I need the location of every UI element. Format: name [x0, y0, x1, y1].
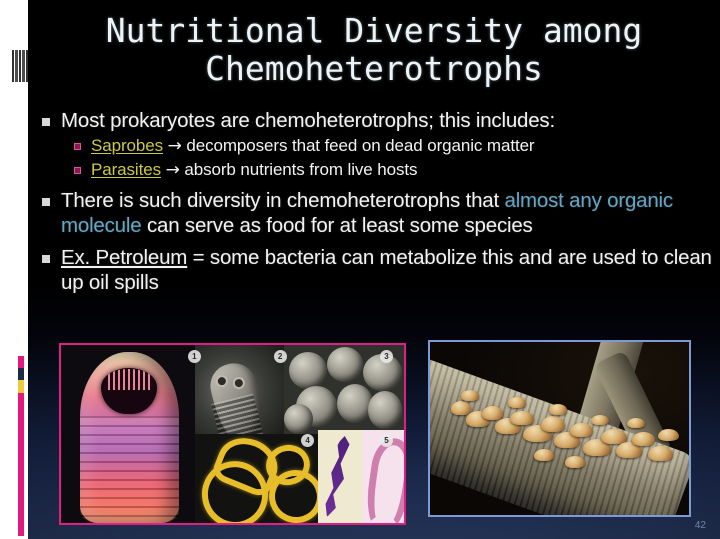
collage-badge-2: 2 — [274, 350, 287, 363]
title-line-2: Chemoheterotrophs — [28, 50, 720, 88]
sub-bullet-saprobes: Saprobes → decomposers that feed on dead… — [74, 134, 716, 158]
keyword-saprobes: Saprobes — [91, 136, 163, 155]
mushroom-cap — [510, 411, 533, 425]
mushroom-cap — [461, 390, 479, 400]
worm-teeth-shape — [105, 369, 153, 390]
bullet-square-icon — [42, 118, 50, 126]
mushroom-cap — [658, 429, 679, 441]
barcode-stripes-decoration — [12, 50, 28, 82]
slide-canvas: Nutritional Diversity among Chemoheterot… — [28, 0, 720, 539]
sub-bullet-square-icon — [74, 167, 81, 174]
mushroom-cap — [534, 449, 555, 461]
collage-panel-stained-worm — [318, 430, 363, 523]
egg-shape — [284, 404, 313, 434]
collage-badge-4: 4 — [301, 434, 314, 447]
navy-accent-segment — [18, 368, 24, 380]
bullet-item-1: Most prokaryotes are chemoheterotrophs; … — [38, 108, 716, 133]
body-content: Most prokaryotes are chemoheterotrophs; … — [38, 108, 716, 296]
left-margin-strip — [0, 0, 28, 539]
slide-page-number: 42 — [695, 520, 706, 531]
bullet-item-2: There is such diversity in chemoheterotr… — [38, 188, 716, 238]
bullet-2-part-a: There is such diversity in chemoheterotr… — [61, 189, 505, 212]
mushroom-cap — [570, 423, 593, 437]
sub-bullet-saprobes-text: Saprobes → decomposers that feed on dead… — [91, 134, 716, 158]
bullet-2-part-b: can serve as food for at least some spec… — [141, 214, 532, 237]
mushroom-cap — [565, 456, 586, 468]
worm-segment-rings — [80, 416, 179, 523]
collage-panel-sem-head — [195, 345, 284, 446]
bullet-item-3: Ex. Petroleum = some bacteria can metabo… — [38, 245, 716, 295]
sub-bullet-saprobes-rest: decomposers that feed on dead organic ma… — [182, 136, 535, 155]
mushroom-photo-image — [428, 340, 691, 517]
mushroom-cap — [549, 404, 567, 414]
slide-root: Nutritional Diversity among Chemoheterot… — [0, 0, 720, 539]
bullet-square-icon — [42, 255, 50, 263]
parasite-collage-image: 1 2 3 4 5 — [59, 343, 406, 525]
title-line-1: Nutritional Diversity among — [28, 12, 720, 50]
keyword-parasites: Parasites — [91, 160, 161, 179]
mushroom-cap — [648, 446, 674, 462]
collage-panels: 1 2 3 4 5 — [61, 345, 404, 523]
egg-shape — [368, 391, 402, 428]
egg-shape — [337, 384, 373, 423]
stained-worm-shape — [320, 435, 357, 518]
mushroom-cap — [632, 432, 655, 446]
sub-bullet-square-icon — [74, 143, 81, 150]
mushroom-cap — [627, 418, 645, 428]
bullet-1-text: Most prokaryotes are chemoheterotrophs; … — [61, 108, 716, 133]
bullet-3-text: Ex. Petroleum = some bacteria can metabo… — [61, 245, 716, 295]
collage-panel-hookworm-mouth — [61, 345, 195, 523]
mushroom-cap — [482, 406, 503, 420]
mushroom-cap — [601, 429, 627, 445]
mushroom-scene — [430, 342, 689, 515]
collage-badge-5: 5 — [380, 434, 393, 447]
sub-bullet-parasites-text: Parasites → absorb nutrients from live h… — [91, 158, 716, 182]
yellow-accent-segment — [18, 380, 24, 393]
arrow-icon: → — [168, 136, 182, 156]
mushroom-cap — [591, 415, 609, 425]
sub-bullet-parasites: Parasites → absorb nutrients from live h… — [74, 158, 716, 182]
egg-shape — [289, 352, 327, 389]
bullet-square-icon — [42, 198, 50, 206]
bullet-2-text: There is such diversity in chemoheterotr… — [61, 188, 716, 238]
egg-shape — [327, 347, 363, 383]
arrow-icon: → — [166, 160, 180, 180]
mushroom-cap — [541, 416, 564, 432]
mushroom-cap — [508, 397, 526, 407]
histology-worm-shape — [363, 435, 404, 523]
page-title: Nutritional Diversity among Chemoheterot… — [28, 12, 720, 88]
mushroom-cap — [451, 401, 472, 415]
sub-bullet-parasites-rest: absorb nutrients from live hosts — [180, 160, 418, 179]
bullet-3-underlined-term: Ex. Petroleum — [61, 246, 187, 269]
collage-panel-roundworms — [195, 434, 318, 523]
